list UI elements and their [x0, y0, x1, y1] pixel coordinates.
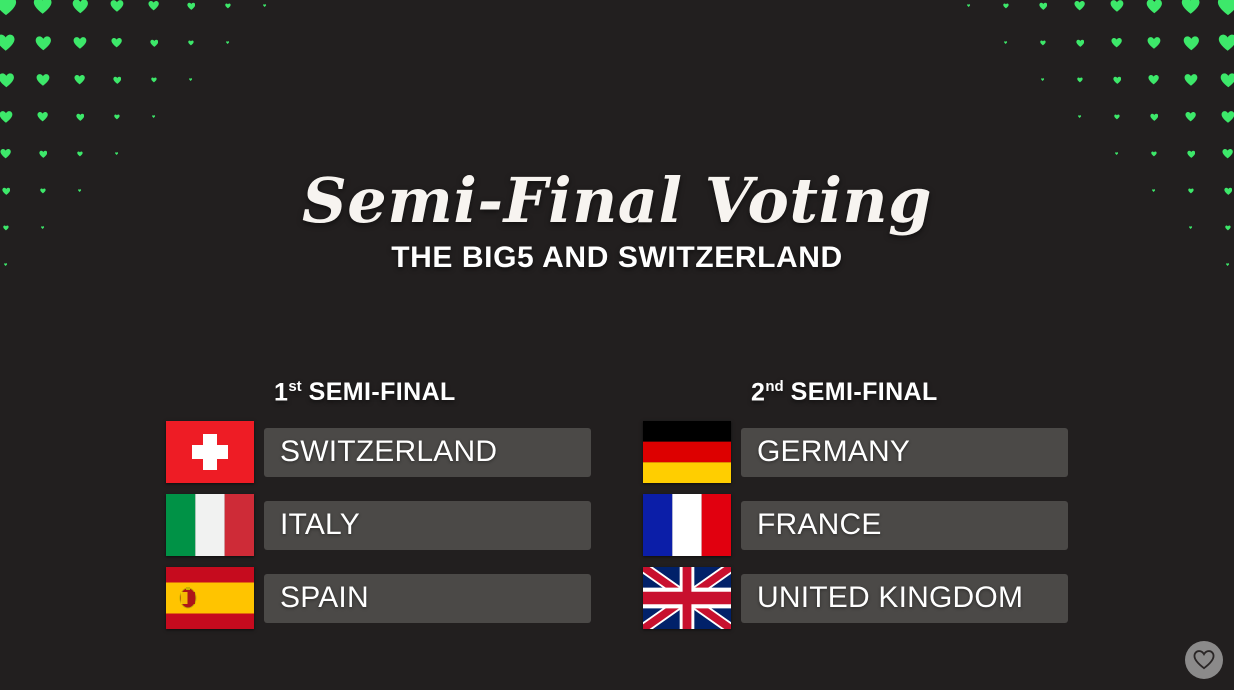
heart-icon: [1147, 36, 1161, 50]
heading-label: SEMI-FINAL: [309, 378, 456, 406]
heart-icon: [1004, 41, 1007, 44]
watermark-logo: [1185, 641, 1223, 679]
flag-switzerland-icon: [166, 421, 254, 483]
heart-icon: [1003, 3, 1009, 9]
heart-outline-icon: [1193, 650, 1215, 670]
heading-label: SEMI-FINAL: [791, 378, 938, 406]
country-name-bar[interactable]: FRANCE: [741, 501, 1068, 550]
heading-ordinal-number: 1: [274, 378, 288, 406]
heart-icon: [39, 150, 48, 159]
heart-icon: [967, 4, 970, 7]
heart-icon: [33, 0, 52, 16]
country-name-bar[interactable]: GERMANY: [741, 428, 1068, 477]
country-name: GERMANY: [757, 435, 910, 469]
heading-ordinal-suffix: nd: [765, 378, 783, 395]
heart-icon: [1184, 73, 1198, 87]
heart-icon: [1111, 37, 1122, 48]
heart-icon: [1148, 74, 1159, 85]
heading-ordinal-suffix: st: [288, 378, 301, 395]
flag-italy-icon: [166, 494, 254, 556]
heart-icon: [0, 0, 17, 17]
heart-icon: [150, 39, 159, 48]
heart-icon: [74, 74, 85, 85]
flag-united-kingdom-icon: [643, 567, 731, 629]
country-name: FRANCE: [757, 508, 882, 542]
heart-icon: [1115, 152, 1118, 155]
heading-first-semifinal: 1stSEMI-FINAL: [274, 378, 591, 407]
heading-second-semifinal: 2ndSEMI-FINAL: [751, 378, 1068, 407]
heart-icon: [1077, 77, 1083, 83]
flag-france-icon: [643, 494, 731, 556]
heart-icon: [1220, 72, 1234, 89]
heart-icon: [0, 148, 11, 159]
heart-icon: [36, 73, 50, 87]
heart-icon: [1151, 151, 1157, 157]
heart-icon: [115, 152, 118, 155]
heart-icon: [226, 41, 229, 44]
heart-icon: [0, 110, 13, 124]
heart-icon: [1181, 0, 1200, 16]
country-row[interactable]: UNITED KINGDOM: [643, 567, 1068, 629]
page-title: Semi-Final Voting: [0, 168, 1234, 233]
heart-icon: [152, 115, 155, 118]
heart-icon: [1076, 39, 1085, 48]
heart-icon: [1150, 113, 1159, 122]
heart-icon: [113, 76, 122, 85]
heart-icon: [1221, 110, 1234, 124]
heart-icon: [1041, 78, 1044, 81]
country-row[interactable]: GERMANY: [643, 421, 1068, 483]
country-row[interactable]: SWITZERLAND: [166, 421, 591, 483]
country-name-bar[interactable]: ITALY: [264, 501, 591, 550]
heart-icon: [1074, 0, 1085, 11]
column-first-semifinal: 1stSEMI-FINAL SWITZERLAND: [166, 378, 591, 640]
heart-icon: [1185, 111, 1196, 122]
country-row[interactable]: ITALY: [166, 494, 591, 556]
heart-icon: [1146, 0, 1163, 14]
heart-icon: [151, 77, 157, 83]
country-name: SWITZERLAND: [280, 435, 497, 469]
heart-icon: [35, 35, 52, 52]
country-name-bar[interactable]: SWITZERLAND: [264, 428, 591, 477]
heart-icon: [148, 0, 159, 11]
heart-icon: [1217, 0, 1234, 17]
heart-icon: [114, 114, 120, 120]
heart-icon: [1114, 114, 1120, 120]
country-name: UNITED KINGDOM: [757, 581, 1023, 615]
heart-icon: [77, 151, 83, 157]
heart-icon: [1183, 35, 1200, 52]
heart-icon: [111, 37, 122, 48]
heart-icon: [72, 0, 89, 14]
heart-icon: [263, 4, 266, 7]
column-second-semifinal: 2ndSEMI-FINAL GERMANY: [643, 378, 1068, 640]
page-subtitle: THE BIG5 AND SWITZERLAND: [0, 241, 1234, 275]
heart-icon: [225, 3, 231, 9]
heart-icon: [1110, 0, 1124, 13]
semifinal-columns: 1stSEMI-FINAL SWITZERLAND: [0, 378, 1234, 640]
heart-icon: [76, 113, 85, 122]
country-name-bar[interactable]: UNITED KINGDOM: [741, 574, 1068, 623]
heart-icon: [187, 2, 196, 11]
heart-icon: [1040, 40, 1046, 46]
heart-icon: [1187, 150, 1196, 159]
heart-icon: [0, 72, 14, 89]
heart-icon: [1222, 148, 1233, 159]
country-row[interactable]: SPAIN: [166, 567, 591, 629]
country-name: SPAIN: [280, 581, 369, 615]
flag-germany-icon: [643, 421, 731, 483]
heart-icon: [1078, 115, 1081, 118]
title-block: Semi-Final Voting THE BIG5 AND SWITZERLA…: [0, 168, 1234, 275]
heart-icon: [1039, 2, 1048, 11]
heart-icon: [73, 36, 87, 50]
heart-icon: [1113, 76, 1122, 85]
heart-icon: [189, 78, 192, 81]
heart-icon: [188, 40, 194, 46]
country-name: ITALY: [280, 508, 360, 542]
heart-icon: [1218, 33, 1234, 52]
heading-ordinal-number: 2: [751, 378, 765, 406]
flag-spain-icon: [166, 567, 254, 629]
heart-icon: [37, 111, 48, 122]
heart-icon: [0, 33, 16, 52]
country-name-bar[interactable]: SPAIN: [264, 574, 591, 623]
country-row[interactable]: FRANCE: [643, 494, 1068, 556]
heart-icon: [110, 0, 124, 13]
